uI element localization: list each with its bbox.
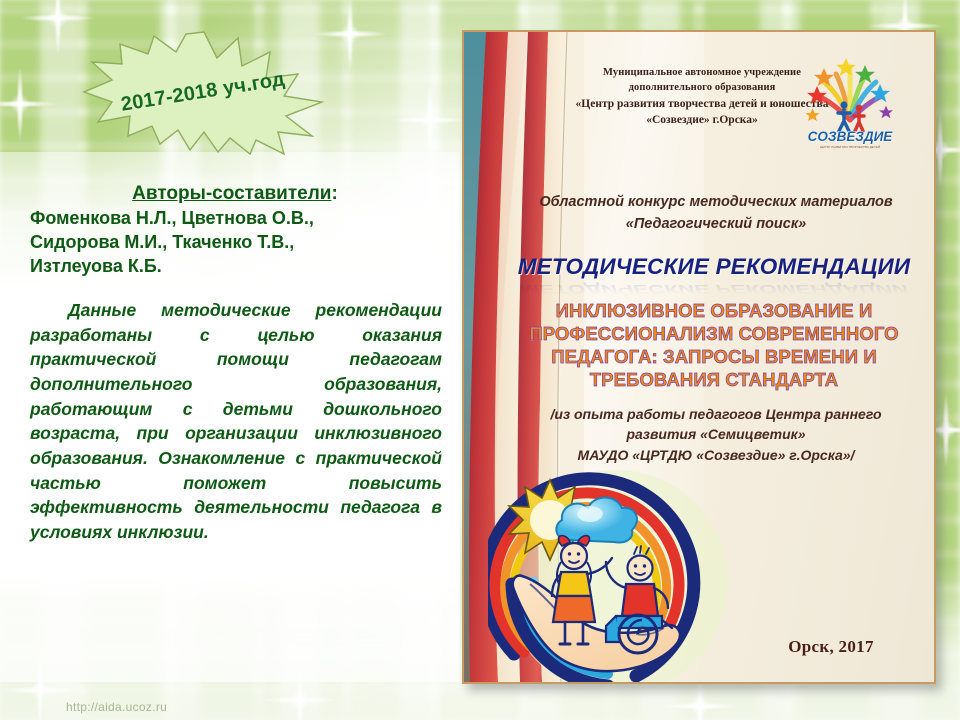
slide-canvas: 2017-2018 уч.год Авторы-составители: Фом…: [0, 0, 960, 720]
subject-line-3: ПЕДАГОГА: ЗАПРОСЫ ВРЕМЕНИ И: [496, 346, 932, 369]
logo-tagline: ЦЕНТР РАЗВИТИЯ ТВОРЧЕСТВА ДЕТЕЙ: [820, 145, 880, 149]
authors-line-3: Изтлеуова К.Б.: [30, 255, 440, 279]
authors-heading-text: Авторы-составители: [132, 183, 331, 204]
subject-line-2: ПРОФЕССИОНАЛИЗМ СОВРЕМЕННОГО: [496, 323, 932, 346]
subject-line-1: ИНКЛЮЗИВНОЕ ОБРАЗОВАНИЕ И: [496, 300, 932, 323]
authors-block: Авторы-составители: Фоменкова Н.Л., Цвет…: [30, 182, 440, 278]
from-exp-line-1: /из опыта работы педагогов Центра раннег…: [516, 404, 916, 424]
contest-block: Областной конкурс методических материало…: [516, 192, 916, 236]
authors-heading-colon: :: [332, 183, 338, 204]
city-and-year: Орск, 2017: [756, 637, 906, 657]
from-exp-line-2: развития «Семицветик»: [516, 424, 916, 444]
badge-label: 2017-2018 уч.год: [120, 68, 287, 117]
document-subject-title: ИНКЛЮЗИВНОЕ ОБРАЗОВАНИЕ И ПРОФЕССИОНАЛИЗ…: [496, 300, 932, 392]
document-main-title: МЕТОДИЧЕСКИЕ РЕКОМЕНДАЦИИ: [504, 254, 924, 280]
authors-line-1: Фоменкова Н.Л., Цветнова О.В.,: [30, 207, 440, 231]
academic-year-badge: 2017-2018 уч.год: [78, 30, 328, 155]
site-watermark: http://aida.ucoz.ru: [66, 700, 167, 714]
contest-line-2: «Педагогический поиск»: [516, 214, 916, 236]
document-cover: Муниципальное автономное учреждение допо…: [462, 30, 936, 684]
authors-line-2: Сидорова М.И., Ткаченко Т.В.,: [30, 231, 440, 255]
logo-wordmark: СОЗВЕЗДИЕ: [808, 129, 894, 144]
description-paragraph: Данные методические рекомендации разрабо…: [30, 298, 442, 545]
from-exp-line-3: МАУДО «ЦРТДЮ «Созвездие» г.Орска»/: [516, 445, 916, 465]
contest-line-1: Областной конкурс методических материало…: [516, 192, 916, 214]
authors-heading: Авторы-составители:: [30, 182, 440, 205]
inclusive-education-emblem: [488, 464, 758, 684]
subject-line-4: ТРЕБОВАНИЯ СТАНДАРТА: [496, 369, 932, 392]
sozvezdie-logo: СОЗВЕЗДИЕ ЦЕНТР РАЗВИТИЯ ТВОРЧЕСТВА ДЕТЕ…: [802, 58, 898, 154]
from-experience-block: /из опыта работы педагогов Центра раннег…: [516, 404, 916, 465]
